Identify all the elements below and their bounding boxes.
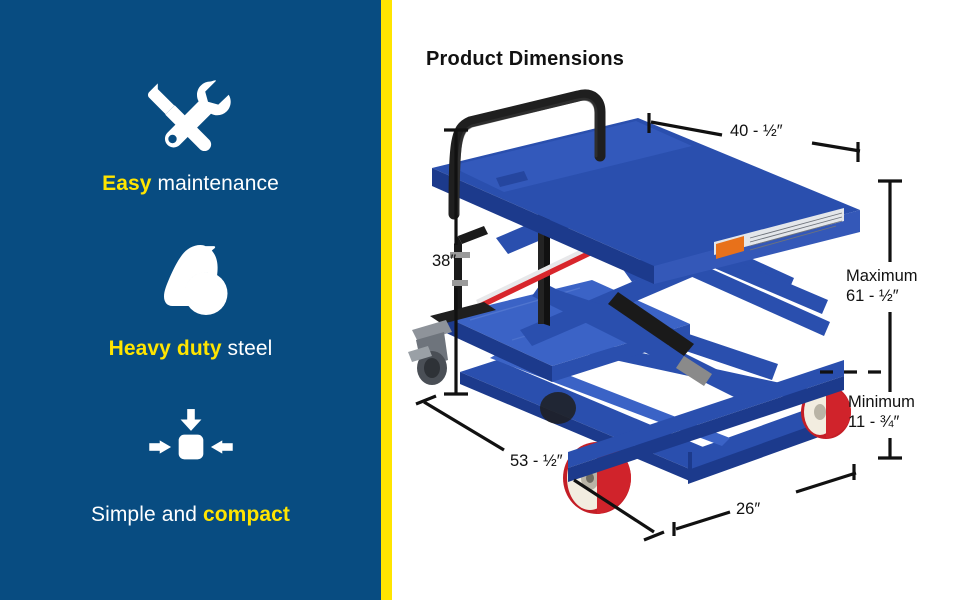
flexed-bicep-icon [136,239,246,323]
dimensions-panel: Product Dimensions [392,0,970,600]
feature-plain-text: maintenance [152,172,279,195]
dim-line-base-width-b [796,473,856,492]
dim-line-platform-width-a [651,122,722,135]
feature-highlight-text: compact [203,503,290,526]
dimension-label-platform-width: 40 - ½″ [730,122,783,141]
dimension-label-min-height-line2: 11 - ¾″ [848,412,968,432]
feature-label: Heavy duty steel [109,337,273,360]
wrench-screwdriver-icon [136,74,246,158]
dimension-label-base-width: 26″ [736,500,760,519]
dimension-label-max-height: Maximum 61 - ½″ [846,266,966,306]
dimension-label-min-height: Minimum 11 - ¾″ [848,392,968,432]
feature-plain-text: Simple and [91,503,203,526]
dim-line-platform-width-b [812,143,860,151]
feature-heavy-duty-steel: Heavy duty steel [0,239,381,360]
compact-arrows-icon [136,405,246,489]
feature-highlight-text: Easy [102,172,151,195]
feature-label: Simple and compact [91,503,290,526]
feature-highlight-text: Heavy duty [109,337,222,360]
dimension-label-min-height-line1: Minimum [848,392,968,412]
dimension-label-max-height-line1: Maximum [846,266,966,286]
feature-simple-and-compact: Simple and compact [0,405,381,526]
dimension-label-overall-length: 53 - ½″ [510,452,563,471]
dimension-label-max-height-line2: 61 - ½″ [846,286,966,306]
accent-stripe-divider [381,0,392,600]
tick-overall-length-bottom [644,532,664,540]
feature-easy-maintenance: Easy maintenance [0,74,381,195]
feature-label: Easy maintenance [102,172,279,195]
dim-line-overall-length-a [424,402,504,450]
dimension-label-handle-height: 38″ [432,252,456,271]
dim-line-base-width-a [676,512,730,529]
feature-list: Easy maintenance Heavy duty steel [0,0,381,600]
dim-line-overall-length-b [574,480,654,532]
product-dimensions-infographic: Easy maintenance Heavy duty steel [0,0,970,600]
feature-plain-text: steel [222,337,273,360]
